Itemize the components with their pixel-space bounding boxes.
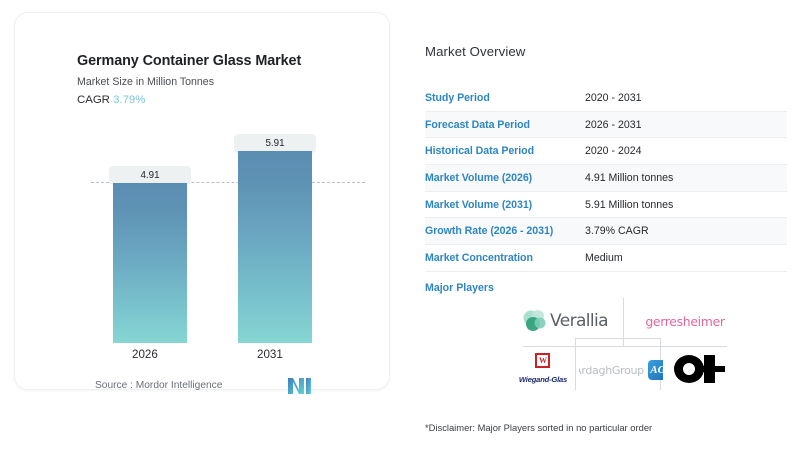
chart-subtitle: Market Size in Million Tonnes: [77, 76, 214, 88]
wiegand-wordmark: Wiegand-Glas: [519, 375, 567, 384]
market-overview-table: Study Period 2020 - 2031 Forecast Data P…: [425, 85, 787, 272]
oi-dash-shape: [715, 366, 725, 372]
cagr-label: CAGR: [77, 94, 110, 106]
player-logo-ardagh-group: ArdaghGroup AG: [579, 348, 663, 392]
overview-title: Market Overview: [425, 44, 787, 59]
verallia-logo: Verallia: [522, 308, 608, 334]
bar-chart-plot-area: 4.91 5.91: [77, 118, 367, 343]
oi-glass-logo: [674, 355, 730, 383]
player-logo-verallia: Verallia: [511, 300, 619, 342]
table-row: Study Period 2020 - 2031: [425, 85, 787, 112]
player-logo-oi: [667, 346, 737, 392]
mordor-intelligence-logo: [288, 378, 312, 399]
table-row: Forecast Data Period 2026 - 2031: [425, 112, 787, 139]
row-value: 2020 - 2031: [585, 92, 642, 104]
row-value: 2020 - 2024: [585, 145, 642, 157]
row-value: 5.91 Million tonnes: [585, 199, 673, 211]
table-row: Growth Rate (2026 - 2031) 3.79% CAGR: [425, 218, 787, 245]
row-key: Forecast Data Period: [425, 119, 585, 131]
row-value: 2026 - 2031: [585, 119, 642, 131]
market-overview-header: Market Overview: [425, 44, 787, 59]
ardagh-monogram-icon: AG: [648, 360, 663, 380]
bar-2026: [113, 183, 187, 343]
wiegand-shield-icon: W: [535, 353, 550, 368]
player-logo-gerresheimer: gerresheimer: [629, 300, 741, 342]
row-key: Market Volume (2031): [425, 199, 585, 211]
verallia-circles-icon: [522, 308, 548, 334]
row-key: Study Period: [425, 92, 585, 104]
bar-2031: [238, 151, 312, 343]
major-players-label: Major Players: [425, 282, 494, 294]
ardagh-wordmark: ArdaghGroup: [579, 364, 644, 377]
row-value: Medium: [585, 252, 623, 264]
disclaimer-text: *Disclaimer: Major Players sorted in no …: [425, 422, 652, 433]
row-value: 4.91 Million tonnes: [585, 172, 673, 184]
row-key: Market Volume (2026): [425, 172, 585, 184]
row-key: Historical Data Period: [425, 145, 585, 157]
row-value: 3.79% CAGR: [585, 225, 649, 237]
table-row: Historical Data Period 2020 - 2024: [425, 138, 787, 165]
x-axis-label-2031: 2031: [257, 348, 283, 361]
chart-title: Germany Container Glass Market: [77, 53, 301, 69]
verallia-wordmark: Verallia: [550, 311, 608, 331]
cagr-line: CAGR 3.79%: [77, 94, 145, 106]
ardagh-group-logo: ArdaghGroup AG: [579, 360, 663, 380]
table-row: Market Volume (2031) 5.91 Million tonnes: [425, 192, 787, 219]
wiegand-glas-logo: W Wiegand-Glas: [519, 353, 567, 387]
row-key: Market Concentration: [425, 252, 585, 264]
market-snapshot-page: Germany Container Glass Market Market Si…: [0, 0, 800, 459]
oi-i-shape: [704, 355, 715, 383]
x-axis-label-2026: 2026: [132, 348, 158, 361]
table-row: Market Volume (2026) 4.91 Million tonnes: [425, 165, 787, 192]
gerresheimer-wordmark: gerresheimer: [645, 314, 724, 329]
player-logo-wiegand-glas: W Wiegand-Glas: [507, 348, 579, 392]
chart-card: Germany Container Glass Market Market Si…: [14, 12, 390, 390]
x-axis-labels: 2026 2031: [77, 348, 367, 366]
cagr-value: 3.79%: [113, 94, 145, 106]
source-text: Source : Mordor Intelligence: [95, 380, 222, 391]
table-row: Market Concentration Medium: [425, 245, 787, 272]
source-row: Source : Mordor Intelligence: [95, 378, 370, 398]
row-key: Growth Rate (2026 - 2031): [425, 225, 585, 237]
major-players-logo-grid: Verallia gerresheimer W Wiegand-Glas Ard…: [505, 296, 745, 396]
